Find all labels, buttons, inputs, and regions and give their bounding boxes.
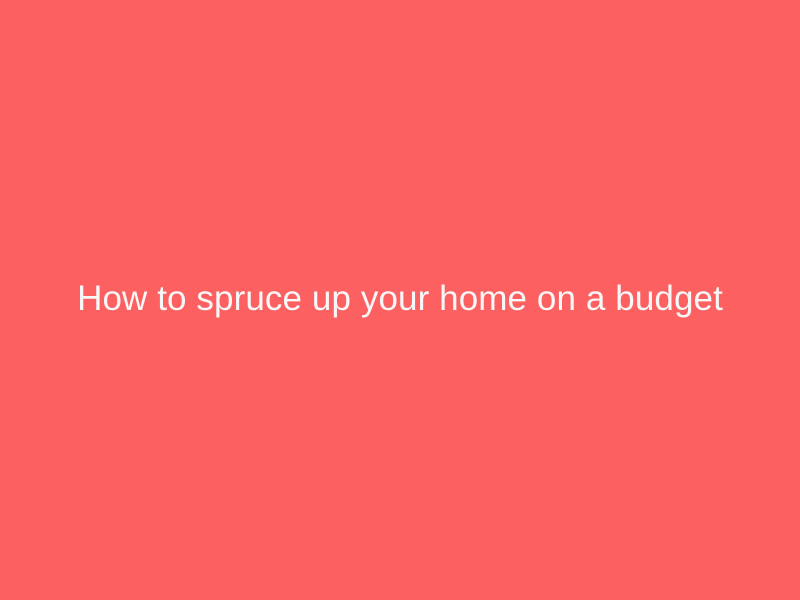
placeholder-card: How to spruce up your home on a budget bbox=[0, 0, 800, 600]
page-title: How to spruce up your home on a budget bbox=[77, 278, 723, 320]
